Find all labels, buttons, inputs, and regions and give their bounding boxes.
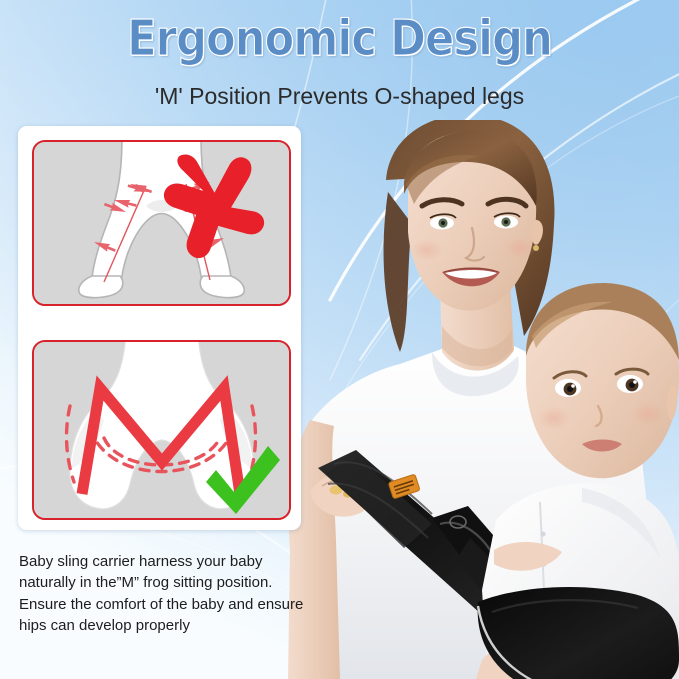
- diagram-card: [18, 126, 301, 530]
- panel-incorrect-o-position: [32, 140, 291, 306]
- page-subtitle: 'M' Position Prevents O-shaped legs: [0, 83, 679, 110]
- description-text: Baby sling carrier harness your baby nat…: [19, 551, 307, 636]
- mother-and-baby-photo: [282, 120, 679, 679]
- page-title: Ergonomic Design: [41, 14, 639, 63]
- panel-correct-m-position: [32, 340, 291, 520]
- marketing-image: Ergonomic Design 'M' Position Prevents O…: [0, 0, 679, 679]
- baby-shirt-button: [540, 531, 545, 536]
- earring: [533, 245, 539, 251]
